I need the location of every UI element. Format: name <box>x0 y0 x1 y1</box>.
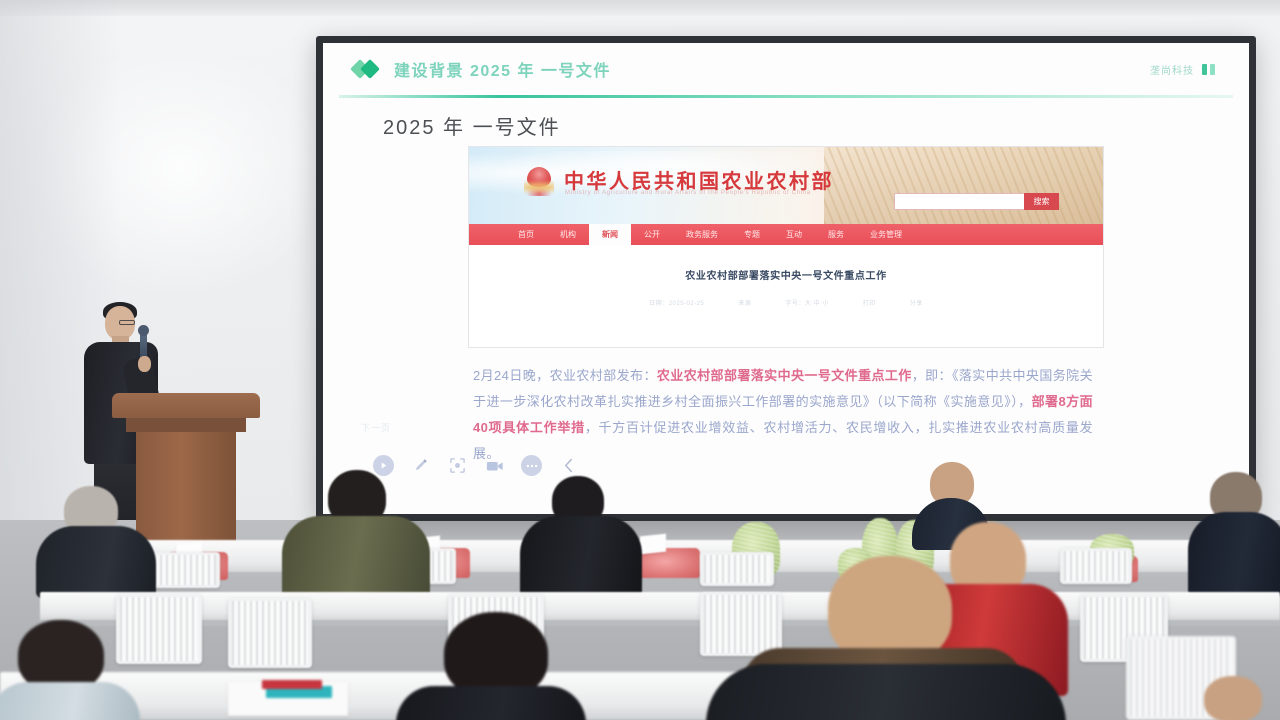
person-jacket <box>396 686 586 720</box>
chair <box>150 552 220 588</box>
person-hand <box>1204 676 1262 720</box>
conference-room-scene: 建设背景 2025 年 一号文件 垄尚科技 2025 年 一号文件 <box>0 0 1280 720</box>
chair <box>1060 548 1132 584</box>
slide-heading: 2025 年 一号文件 <box>383 111 561 140</box>
microphone-head <box>138 325 149 336</box>
nav-item-home[interactable]: 首页 <box>505 224 547 245</box>
site-nav[interactable]: 首页 机构 新闻 公开 政务服务 专题 互动 服务 业务管理 <box>469 224 1103 245</box>
audience-member <box>0 620 140 720</box>
site-article: 农业农村部部署落实中央一号文件重点工作 日期：2025-02-25 来源 字号：… <box>469 245 1103 347</box>
nav-item-interaction[interactable]: 互动 <box>773 224 815 245</box>
site-search[interactable]: 搜索 <box>894 193 1059 210</box>
audience-member <box>1188 472 1280 592</box>
para-segment-2-highlight: 农业农村部部署落实中央一号文件重点工作 <box>657 368 912 383</box>
para-segment-1: 2月24日晚，农业农村部发布： <box>473 368 657 383</box>
basket-card <box>640 534 666 555</box>
person-jacket <box>282 516 430 604</box>
presenter-hand <box>138 356 151 372</box>
article-meta-fontsize: 字号：大 中 小 <box>785 298 828 307</box>
wheat-field-graphic <box>824 147 1103 224</box>
nav-item-service[interactable]: 服务 <box>815 224 857 245</box>
wall-display-bezel: 建设背景 2025 年 一号文件 垄尚科技 2025 年 一号文件 <box>316 36 1256 521</box>
nav-item-organization[interactable]: 机构 <box>547 224 589 245</box>
chair <box>228 598 312 668</box>
search-input[interactable] <box>894 193 1024 210</box>
site-banner: 中华人民共和国农业农村部 Ministry of Agriculture and… <box>469 147 1103 224</box>
ceiling-edge <box>0 0 1280 16</box>
two-bars-icon <box>1202 64 1215 75</box>
person-jacket <box>706 664 1066 720</box>
search-button[interactable]: 搜索 <box>1024 193 1059 210</box>
article-meta: 日期：2025-02-25 来源 字号：大 中 小 打印 分享 <box>469 298 1103 307</box>
audience-member <box>282 470 430 600</box>
audience-member <box>1196 676 1280 720</box>
site-title-en: Ministry of Agriculture and Rural Affair… <box>565 190 811 196</box>
article-meta-print[interactable]: 打印 <box>863 298 876 307</box>
national-emblem-icon <box>524 165 554 197</box>
focus-icon[interactable] <box>447 455 468 476</box>
podium-neck <box>126 418 246 432</box>
person-jacket <box>0 682 140 720</box>
audience-member <box>706 664 1066 720</box>
podium-top <box>112 393 260 418</box>
chevron-left-icon[interactable] <box>558 455 579 476</box>
nav-item-disclosure[interactable]: 公开 <box>631 224 673 245</box>
person-jacket <box>36 526 156 598</box>
person-jacket <box>1188 512 1280 596</box>
slide-header-title: 建设背景 2025 年 一号文件 <box>394 57 611 81</box>
article-meta-date: 日期：2025-02-25 <box>649 298 704 307</box>
article-meta-source: 来源 <box>738 298 751 307</box>
slide-header-right: 垄尚科技 <box>1150 62 1215 77</box>
ministry-website-screenshot: 中华人民共和国农业农村部 Ministry of Agriculture and… <box>469 147 1103 347</box>
audience-member <box>396 612 586 720</box>
next-page-label[interactable]: 下一页 <box>361 421 391 434</box>
presentation-slide[interactable]: 建设背景 2025 年 一号文件 垄尚科技 2025 年 一号文件 <box>323 43 1249 514</box>
more-icon[interactable] <box>521 455 542 476</box>
slide-paragraph: 2月24日晚，农业农村部发布：农业农村部部署落实中央一号文件重点工作，即：《落实… <box>473 363 1093 467</box>
corp-name: 垄尚科技 <box>1150 62 1194 77</box>
video-icon[interactable] <box>484 455 505 476</box>
audience-member <box>36 486 156 596</box>
double-diamond-icon <box>353 61 383 78</box>
person-jacket <box>520 516 642 598</box>
header-divider <box>339 95 1233 98</box>
presenter-glasses <box>119 320 135 325</box>
nav-item-news[interactable]: 新闻 <box>589 224 631 245</box>
nav-item-topics[interactable]: 专题 <box>731 224 773 245</box>
nav-item-business-management[interactable]: 业务管理 <box>857 224 915 245</box>
audience-member <box>520 476 642 596</box>
notebook <box>262 680 322 689</box>
nav-item-government-services[interactable]: 政务服务 <box>673 224 731 245</box>
article-meta-share[interactable]: 分享 <box>910 298 923 307</box>
slide-header: 建设背景 2025 年 一号文件 垄尚科技 <box>323 43 1249 95</box>
article-title: 农业农村部部署落实中央一号文件重点工作 <box>469 267 1103 282</box>
